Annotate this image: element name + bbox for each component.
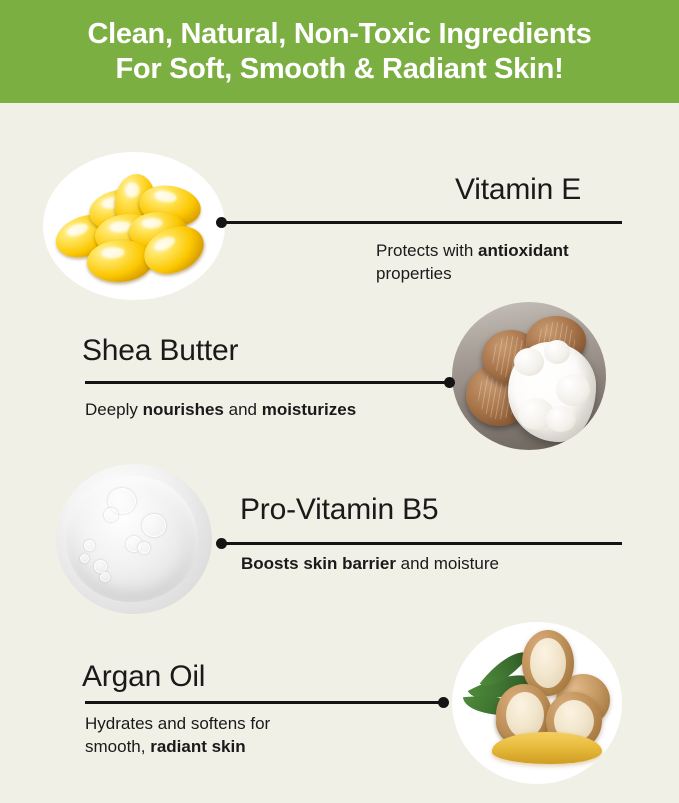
connector-line-argan-oil [85,701,443,704]
connector-line-vitamin-e [221,221,622,224]
connector-dot-argan-oil [438,697,449,708]
ingredient-description-shea-butter: Deeply nourishes and moisturizes [85,398,455,421]
header-title-line-2: For Soft, Smooth & Radiant Skin! [116,52,564,87]
vitamin-e-desc-pre: Protects with [376,241,478,260]
connector-dot-shea-butter [444,377,455,388]
vitamin-e-desc-bold: antioxidant [478,241,569,260]
b5-desc-bold: Boosts skin barrier [241,554,396,573]
vitamin-e-desc-line2: properties [376,264,452,283]
header-title-line-1: Clean, Natural, Non-Toxic Ingredients [88,17,592,52]
connector-line-pro-vitamin-b5 [221,542,622,545]
shea-desc-pre: Deeply [85,400,143,419]
header-banner: Clean, Natural, Non-Toxic Ingredients Fo… [0,0,679,103]
argan-desc-line2-bold: radiant skin [150,737,245,756]
shea-desc-bold-1: nourishes [143,400,224,419]
argan-desc-line1: Hydrates and softens for [85,714,270,733]
argan-desc-line2-pre: smooth, [85,737,150,756]
ingredient-title-pro-vitamin-b5: Pro-Vitamin B5 [240,493,438,527]
ingredients-infographic: Clean, Natural, Non-Toxic Ingredients Fo… [0,0,679,803]
pro-vitamin-b5-gel-photo [56,464,212,614]
ingredient-title-shea-butter: Shea Butter [82,334,238,368]
ingredient-description-vitamin-e: Protects with antioxidant properties [376,239,638,285]
argan-oil-photo [452,622,622,784]
vitamin-e-capsules-photo [43,152,225,300]
shea-desc-mid: and [224,400,262,419]
ingredient-description-argan-oil: Hydrates and softens for smooth, radiant… [85,712,385,758]
b5-desc-post: and moisture [396,554,499,573]
shea-desc-bold-2: moisturizes [262,400,356,419]
connector-line-shea-butter [85,381,449,384]
ingredient-title-vitamin-e: Vitamin E [455,173,581,207]
ingredient-description-pro-vitamin-b5: Boosts skin barrier and moisture [241,552,621,575]
ingredient-title-argan-oil: Argan Oil [82,660,205,694]
shea-butter-photo [452,302,606,450]
